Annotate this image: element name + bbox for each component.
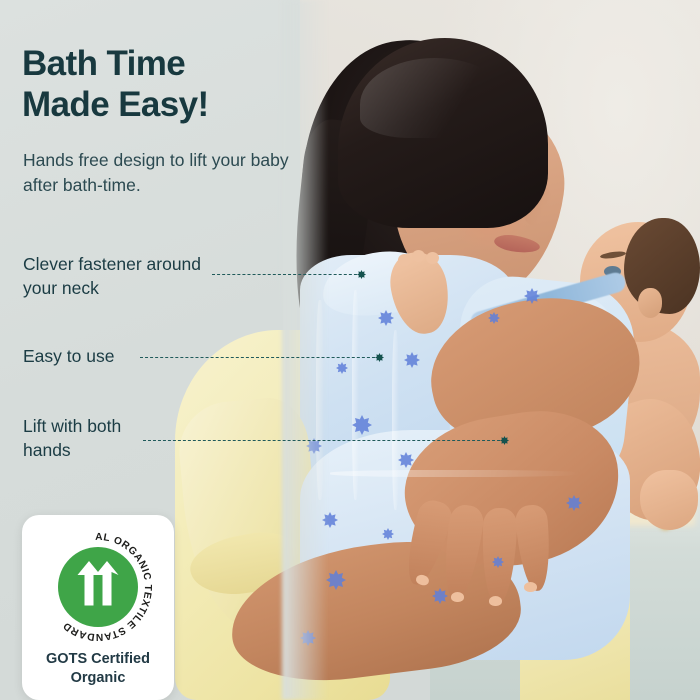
callout-connector-1	[212, 274, 362, 276]
callout-connector-3	[143, 440, 505, 442]
feature-label-lift-both-hands: Lift with both hands	[23, 415, 173, 462]
baby-toe	[398, 254, 411, 266]
gots-caption-line-1: GOTS Certified	[22, 650, 174, 669]
baby-toe	[412, 250, 425, 262]
headline-line-2: Made Easy!	[22, 85, 302, 126]
connector-endpoint-marker	[500, 436, 509, 445]
subtitle: Hands free design to lift your baby afte…	[23, 148, 291, 198]
baby-toe	[426, 252, 439, 264]
towel-star-motif	[326, 570, 346, 590]
towel-fold	[352, 290, 359, 500]
connector-dashed-line	[212, 274, 362, 275]
gots-seal-icon: GLOBAL ORGANIC TEXTILE STANDARD · GOTS ·	[39, 528, 157, 646]
towel-fold	[392, 330, 399, 510]
baby-hair	[624, 218, 700, 314]
callout-connector-2	[140, 357, 380, 359]
gots-certification-badge: GLOBAL ORGANIC TEXTILE STANDARD · GOTS ·…	[22, 515, 174, 700]
fingernail	[451, 592, 464, 602]
headline-line-1: Bath Time	[22, 44, 302, 85]
connector-dashed-line	[143, 440, 505, 441]
feature-label-clever-fastener: Clever fastener around your neck	[23, 253, 213, 300]
baby-ear	[638, 288, 662, 318]
connector-endpoint-marker	[357, 270, 366, 279]
gots-caption-line-2: Organic	[22, 669, 174, 688]
gots-badge-caption: GOTS Certified Organic	[22, 650, 174, 687]
product-feature-image: Bath Time Made Easy! Hands free design t…	[0, 0, 700, 700]
connector-endpoint-marker	[375, 353, 384, 362]
towel-star-motif	[352, 415, 372, 435]
fingernail	[524, 582, 537, 592]
connector-dashed-line	[140, 357, 380, 358]
page-title: Bath Time Made Easy!	[22, 44, 302, 126]
baby-hand	[640, 470, 698, 530]
towel-fold	[330, 470, 580, 477]
fingernail	[489, 596, 502, 606]
